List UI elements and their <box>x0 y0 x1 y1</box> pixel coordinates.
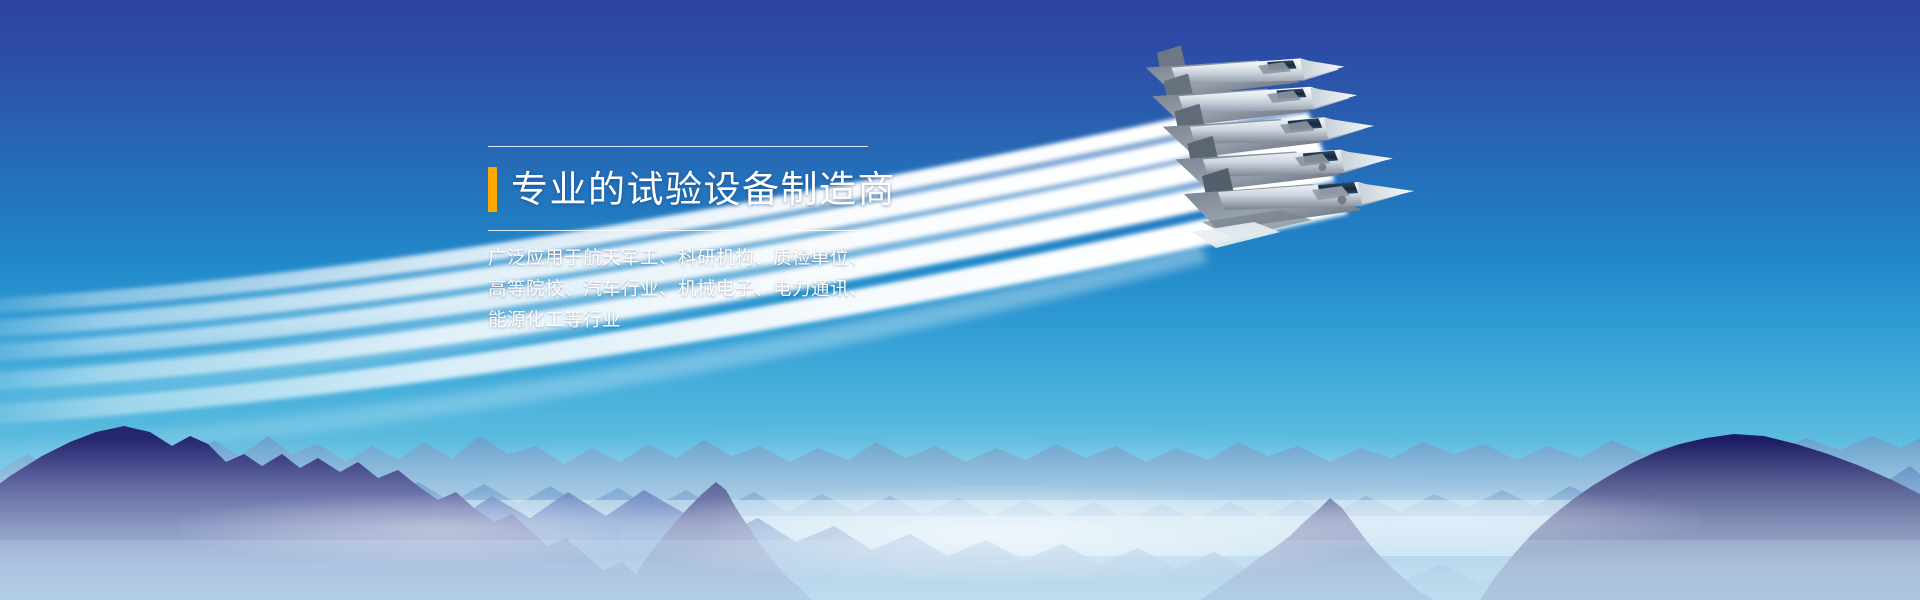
hero-banner: 专业的试验设备制造商 广泛应用于航天军工、科研机构、质检单位、 高等院校、汽车行… <box>0 0 1920 600</box>
headline-row: 专业的试验设备制造商 <box>488 157 880 221</box>
headline-rule-bottom <box>488 230 868 231</box>
banner-copy: 专业的试验设备制造商 广泛应用于航天军工、科研机构、质检单位、 高等院校、汽车行… <box>488 146 880 335</box>
sky-gradient <box>0 0 1920 600</box>
subcopy-line-1: 广泛应用于航天军工、科研机构、质检单位、 <box>488 242 880 273</box>
subcopy-line-3: 能源化工等行业 <box>488 304 880 335</box>
accent-bar <box>488 167 497 212</box>
headline-rule-top <box>488 146 868 147</box>
page-title: 专业的试验设备制造商 <box>511 171 896 208</box>
banner-subcopy: 广泛应用于航天军工、科研机构、质检单位、 高等院校、汽车行业、机械电子、电力通讯… <box>488 242 880 335</box>
subcopy-line-2: 高等院校、汽车行业、机械电子、电力通讯、 <box>488 273 880 304</box>
